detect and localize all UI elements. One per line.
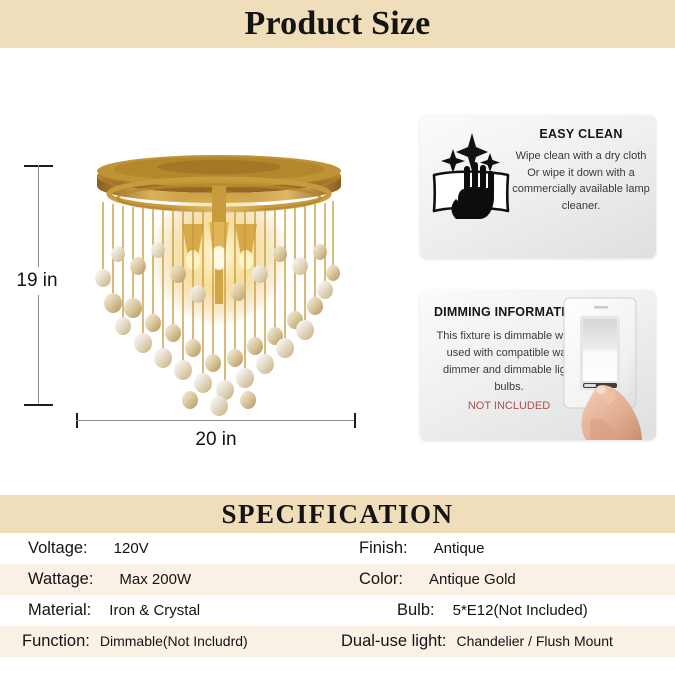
easy-clean-card: EASY CLEAN Wipe clean with a dry cloth O… — [420, 115, 656, 258]
spec-value-voltage: 120V — [114, 540, 149, 557]
spec-cell-bulb: Bulb: 5*E12(Not Included) — [337, 601, 674, 620]
easy-clean-text-block: EASY CLEAN Wipe clean with a dry cloth O… — [512, 127, 650, 214]
spec-value-function: Dimmable(Not Includrd) — [100, 633, 248, 649]
table-row: Wattage: Max 200W Color: Antique Gold — [0, 564, 675, 595]
spec-value-dual-use-light: Chandelier / Flush Mount — [456, 633, 612, 649]
easy-clean-title: EASY CLEAN — [512, 127, 650, 141]
table-row: Material: Iron & Crystal Bulb: 5*E12(Not… — [0, 595, 675, 626]
table-row: Function: Dimmable(Not Includrd) Dual-us… — [0, 626, 675, 657]
specification-header-band: SPECIFICATION — [0, 495, 675, 533]
specification-table: Voltage: 120V Finish: Antique Wattage: M… — [0, 533, 675, 657]
hand-wiping-cloth-sparkle-icon — [428, 127, 514, 219]
spec-cell-function: Function: Dimmable(Not Includrd) — [0, 632, 337, 651]
dimming-information-card: DIMMING INFORMATION This fixture is dimm… — [420, 290, 656, 440]
spec-label-wattage: Wattage: — [28, 570, 93, 589]
spec-label-material: Material: — [28, 601, 91, 620]
spec-label-voltage: Voltage: — [28, 539, 88, 558]
height-dimension-label: 19 in — [4, 267, 70, 295]
spec-cell-dual-use-light: Dual-use light: Chandelier / Flush Mount — [337, 632, 674, 651]
spec-label-bulb: Bulb: — [397, 601, 435, 620]
spec-label-dual-use-light: Dual-use light: — [341, 632, 446, 651]
spec-label-function: Function: — [22, 632, 90, 651]
spec-label-finish: Finish: — [359, 539, 408, 558]
width-dimension-label: 20 in — [76, 429, 356, 451]
spec-value-wattage: Max 200W — [119, 571, 191, 588]
spec-cell-voltage: Voltage: 120V — [0, 539, 337, 558]
spec-value-material: Iron & Crystal — [109, 602, 200, 619]
width-dimension-cap-right — [354, 413, 356, 428]
height-dimension-cap-bottom — [24, 404, 53, 406]
specification-title: SPECIFICATION — [221, 501, 453, 528]
spec-cell-wattage: Wattage: Max 200W — [0, 570, 337, 589]
spec-value-color: Antique Gold — [429, 571, 516, 588]
width-dimension-line — [76, 420, 355, 421]
spec-value-finish: Antique — [434, 540, 485, 557]
table-row: Voltage: 120V Finish: Antique — [0, 533, 675, 564]
product-size-header-band: Product Size — [0, 0, 675, 48]
chandelier-product-image — [78, 154, 360, 416]
spec-cell-color: Color: Antique Gold — [337, 570, 674, 589]
spec-cell-material: Material: Iron & Crystal — [0, 601, 337, 620]
spec-cell-finish: Finish: Antique — [337, 539, 674, 558]
spec-value-bulb: 5*E12(Not Included) — [453, 602, 588, 619]
product-image-area: 19 in 20 in — [0, 48, 410, 495]
finger-pressing-dimmer-switch-icon — [546, 294, 654, 440]
page-title: Product Size — [245, 7, 431, 41]
spec-label-color: Color: — [359, 570, 403, 589]
easy-clean-body: Wipe clean with a dry cloth Or wipe it d… — [512, 148, 650, 214]
